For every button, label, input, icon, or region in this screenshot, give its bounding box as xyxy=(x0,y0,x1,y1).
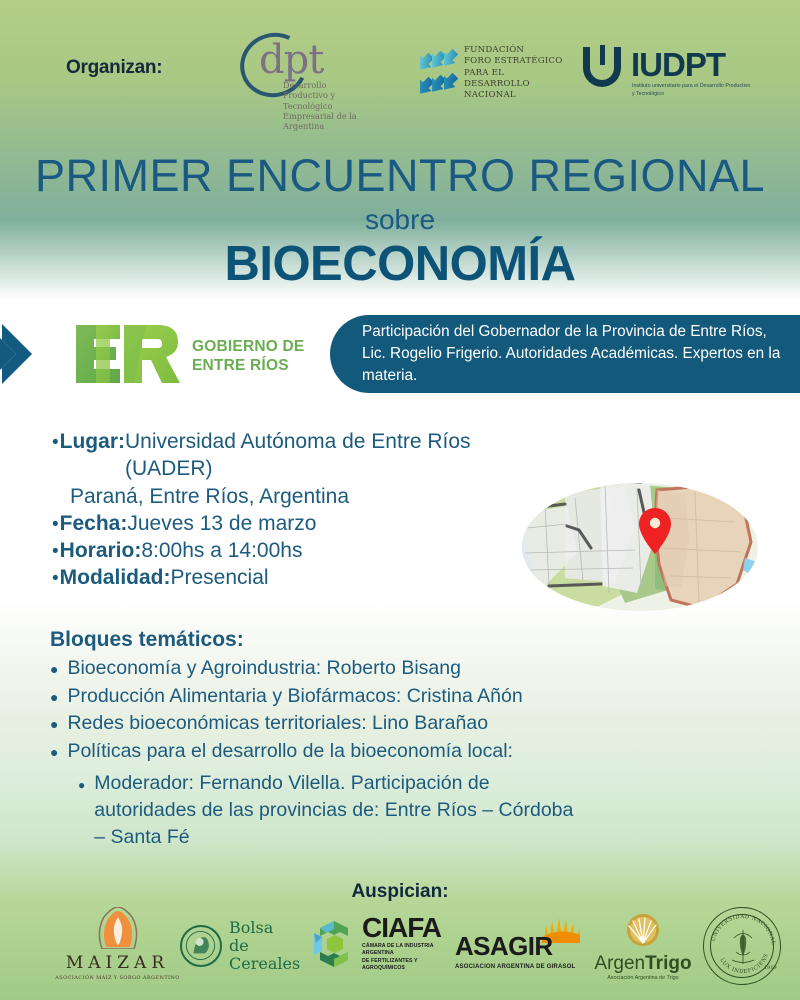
title-line-1: PRIMER ENCUENTRO REGIONAL xyxy=(0,152,800,199)
argentrigo-word-b: Trigo xyxy=(645,953,691,974)
thematic-block-item: ● Bioeconomía y Agroindustria: Roberto B… xyxy=(50,655,650,683)
foro-arrows-icon xyxy=(414,44,462,100)
bullet-icon: • xyxy=(52,569,59,588)
governor-participation-banner: Participación del Gobernador de la Provi… xyxy=(330,315,800,393)
title-line-3: BIOECONOMÍA xyxy=(0,238,800,291)
er-gov-line-1: GOBIERNO DE xyxy=(192,337,304,356)
bullet-icon: • xyxy=(52,542,59,561)
thematic-block-item: ● Redes bioeconómicas territoriales: Lin… xyxy=(50,710,650,738)
thematic-block-label: Producción Alimentaria y Biofármacos: Cr… xyxy=(67,683,522,711)
sponsor-universidad-nacional-del-litoral: UNIVERSIDAD NACIONAL DEL LITORAL LUX IND… xyxy=(700,907,784,985)
detail-lugar: • Lugar: Universidad Autónoma de Entre R… xyxy=(52,428,522,483)
thematic-blocks-section: Bloques temáticos: ● Bioeconomía y Agroi… xyxy=(50,628,650,850)
argentrigo-subtitle: Asociación Argentina de Trigo xyxy=(588,975,698,981)
er-gov-line-2: ENTRE RÍOS xyxy=(192,356,304,375)
sponsors-label: Auspician: xyxy=(0,881,800,903)
detail-horario-value: 8:00hs a 14:00hs xyxy=(141,537,302,564)
bullet-icon: ● xyxy=(50,717,58,731)
ciafa-wordmark: CIAFA xyxy=(362,915,455,942)
sponsors-row: MAIZAR ASOCIACIÓN MAÍZ Y SORGO ARGENTINO… xyxy=(0,905,800,997)
bolsa-seal-icon xyxy=(180,925,222,967)
foro-line-5: NACIONAL xyxy=(464,90,564,101)
event-details-list: • Lugar: Universidad Autónoma de Entre R… xyxy=(52,428,522,592)
iudpt-u-icon xyxy=(583,47,621,87)
thematic-sub-item: ● Moderador: Fernando Vilella. Participa… xyxy=(78,770,650,851)
iudpt-acronym: IUDPT xyxy=(631,46,725,84)
thematic-block-label: Políticas para el desarrollo de la bioec… xyxy=(67,738,513,766)
sponsor-maizar: MAIZAR ASOCIACIÓN MAÍZ Y SORGO ARGENTINO xyxy=(55,907,180,981)
detail-fecha: • Fecha: Jueves 13 de marzo xyxy=(52,510,522,537)
argentrigo-wheat-icon xyxy=(623,913,663,947)
er-government-label: GOBIERNO DE ENTRE RÍOS xyxy=(192,337,304,376)
foro-line-1: FUNDACIÓN xyxy=(464,45,564,56)
foro-line-3: PARA EL xyxy=(464,68,564,79)
detail-lugar-continuation: Paraná, Entre Ríos, Argentina xyxy=(52,483,522,510)
bullet-icon: ● xyxy=(50,745,58,759)
location-map xyxy=(505,468,795,626)
ciafa-subtitle-line-1: CÁMARA DE LA INDUSTRIA ARGENTINA xyxy=(362,943,455,958)
ciafa-hex-icon xyxy=(310,919,358,969)
maizar-wordmark: MAIZAR xyxy=(55,955,180,972)
bullet-icon: ● xyxy=(50,690,58,704)
dpt-subtitle: Desarrollo Productivo y Tecnológico Empr… xyxy=(283,80,367,131)
thematic-blocks-title: Bloques temáticos: xyxy=(50,628,650,652)
thematic-block-item: ● Políticas para el desarrollo de la bio… xyxy=(50,738,650,766)
thematic-block-item: ● Producción Alimentaria y Biofármacos: … xyxy=(50,683,650,711)
bullet-icon: • xyxy=(52,515,59,534)
thematic-sub-label: Moderador: Fernando Vilella. Participaci… xyxy=(94,770,574,851)
foro-name: FUNDACIÓN FORO ESTRATÉGICO PARA EL DESAR… xyxy=(464,45,564,102)
organizers-label: Organizan: xyxy=(66,57,162,79)
detail-horario: • Horario: 8:00hs a 14:00hs xyxy=(52,537,522,564)
sponsor-argentrigo: ArgenTrigo Asociación Argentina de Trigo xyxy=(588,913,698,981)
logo-dpt: dpt Desarrollo Productivo y Tecnológico … xyxy=(240,33,360,113)
governor-participation-text: Participación del Gobernador de la Provi… xyxy=(330,321,800,386)
bolsa-wordmark: Bolsa de Cereales xyxy=(229,919,310,973)
detail-fecha-value: Jueves 13 de marzo xyxy=(127,510,316,537)
ciafa-subtitle-line-2: DE FERTILIZANTES Y AGROQUÍMICOS xyxy=(362,958,455,973)
detail-horario-key: Horario: xyxy=(60,537,142,564)
dpt-acronym: dpt xyxy=(259,40,323,80)
bullet-icon: ● xyxy=(50,662,58,676)
maizar-subtitle: ASOCIACIÓN MAÍZ Y SORGO ARGENTINO xyxy=(55,975,180,981)
maizar-corn-icon xyxy=(92,907,144,949)
logo-fundacion-foro: FUNDACIÓN FORO ESTRATÉGICO PARA EL DESAR… xyxy=(414,44,564,106)
detail-modalidad-value: Presencial xyxy=(170,564,268,591)
iudpt-subtitle: Instituto universitario para el Desarrol… xyxy=(632,83,752,98)
title-line-2: sobre xyxy=(0,205,800,236)
detail-fecha-key: Fecha: xyxy=(60,510,128,537)
foro-line-4: DESARROLLO xyxy=(464,79,564,90)
bolsa-line-2: de Cereales xyxy=(229,937,310,973)
chevron-right-icon xyxy=(0,324,48,384)
svg-text:1919: 1919 xyxy=(764,965,777,971)
argentrigo-word-a: Argen xyxy=(594,953,645,974)
sponsor-bolsa-de-cereales: Bolsa de Cereales xyxy=(180,919,310,973)
government-banner-row: GOBIERNO DE ENTRE RÍOS Participación del… xyxy=(0,305,800,405)
unl-seal-icon: UNIVERSIDAD NACIONAL DEL LITORAL LUX IND… xyxy=(703,907,781,985)
poster-title-block: PRIMER ENCUENTRO REGIONAL sobre BIOECONO… xyxy=(0,152,800,291)
organizers-bar: Organizan: dpt Desarrollo Productivo y T… xyxy=(0,0,800,128)
foro-line-2: FORO ESTRATÉGICO xyxy=(464,56,564,67)
svg-text:LUX INDEFICIENS: LUX INDEFICIENS xyxy=(718,953,770,975)
er-logo xyxy=(74,323,184,385)
detail-lugar-key: Lugar: xyxy=(60,428,125,455)
logo-iudpt: IUDPT Instituto universitario para el De… xyxy=(583,47,758,102)
event-poster: Organizan: dpt Desarrollo Productivo y T… xyxy=(0,0,800,1000)
asagir-wordmark: ASAGIR xyxy=(455,931,590,962)
detail-modalidad: • Modalidad: Presencial xyxy=(52,564,522,591)
thematic-block-label: Redes bioeconómicas territoriales: Lino … xyxy=(67,710,488,738)
thematic-block-label: Bioeconomía y Agroindustria: Roberto Bis… xyxy=(67,655,460,683)
argentrigo-wordmark: ArgenTrigo xyxy=(588,954,698,973)
unl-seal-art: UNIVERSIDAD NACIONAL DEL LITORAL LUX IND… xyxy=(704,908,782,986)
bullet-icon: • xyxy=(52,433,59,452)
detail-modalidad-key: Modalidad: xyxy=(60,564,171,591)
bolsa-line-1: Bolsa xyxy=(229,919,310,937)
bullet-icon: ● xyxy=(78,779,85,791)
detail-lugar-value: Universidad Autónoma de Entre Ríos (UADE… xyxy=(125,428,522,483)
sponsor-ciafa: CIAFA CÁMARA DE LA INDUSTRIA ARGENTINA D… xyxy=(310,915,455,973)
sponsor-asagir: ASAGIR ASOCIACION ARGENTINA DE GIRASOL xyxy=(455,913,590,970)
